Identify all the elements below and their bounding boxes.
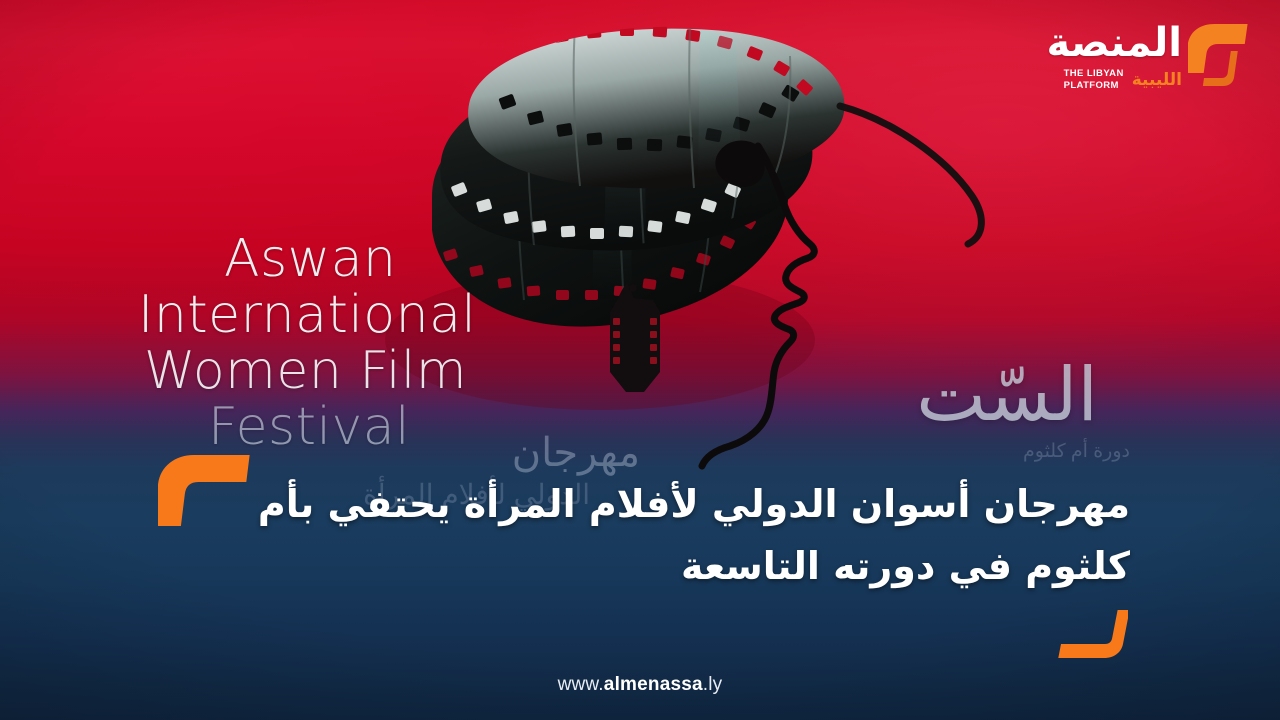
headline-line-2: كلثوم في دورته التاسعة: [200, 536, 1130, 598]
brand-logo-text: المنصة THE LIBYAN PLATFORM الليبية: [1046, 23, 1182, 90]
headline: مهرجان أسوان الدولي لأفلام المرأة يحتفي …: [200, 474, 1130, 597]
orange-bracket-small-icon: [1058, 608, 1128, 660]
brand-en-line-1: THE LIBYAN: [1064, 68, 1124, 79]
brand-logo[interactable]: المنصة THE LIBYAN PLATFORM الليبية: [1046, 14, 1252, 100]
headline-line-1: مهرجان أسوان الدولي لأفلام المرأة يحتفي …: [200, 474, 1130, 536]
news-card: Aswan International Women Film Festival …: [0, 0, 1280, 720]
brand-name-english: THE LIBYAN PLATFORM: [1064, 68, 1124, 90]
footer-website-url[interactable]: www.almenassa.ly: [0, 674, 1280, 696]
url-tld: .ly: [703, 674, 723, 695]
brand-en-line-2: PLATFORM: [1064, 80, 1124, 91]
url-name: almenassa: [604, 674, 703, 695]
brand-name-arabic: المنصة: [1046, 23, 1182, 63]
brand-subtitle-row: THE LIBYAN PLATFORM الليبية: [1064, 68, 1182, 90]
url-prefix: www.: [558, 674, 604, 695]
brand-subtitle-arabic: الليبية: [1132, 71, 1182, 88]
almenassa-bracket-logo-icon: [1188, 21, 1252, 93]
